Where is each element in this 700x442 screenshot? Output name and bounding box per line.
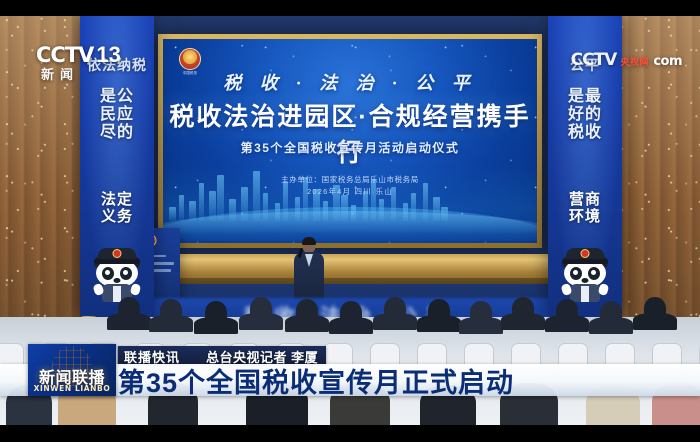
led-organizer-text: 主办单位：国家税务总局乐山市税务局 — [163, 174, 537, 185]
panda-cap-badge — [581, 249, 590, 258]
panda-eye — [570, 267, 582, 280]
panda-eye — [102, 267, 114, 280]
led-kicker-text: 税 收 · 法 治 · 公 平 — [163, 69, 537, 95]
panda-mascot-icon — [93, 248, 141, 302]
panda-cap-badge — [113, 249, 122, 258]
banner-left-tail: 法定义务 — [80, 192, 154, 226]
letterbox-top — [0, 0, 700, 16]
panda-mascot-icon — [561, 248, 609, 302]
led-subtitle-text: 第35个全国税收宣传月活动启动仪式 — [163, 139, 537, 156]
emblem-disc — [179, 48, 201, 70]
panda-arm — [598, 283, 609, 296]
xinwen-lianbo-logo: 新闻联播 XINWEN LIANBO — [28, 344, 116, 396]
slogan-banner-left: 依法纳税 是公民应尽的 法定义务 — [80, 16, 154, 316]
video-frame: 中国税务 税 收 · 法 治 · 公 平 税收法治进园区·合规经营携手行 第35… — [0, 16, 700, 425]
banner-right-lead: 公平 — [548, 58, 622, 74]
panda-arm — [130, 283, 141, 296]
lower-third: 联播快讯 总台央视记者 李厦 第35个全国税收宣传月正式启动 新闻联播 XINW… — [0, 344, 700, 408]
slogan-banner-right: 公平 是最好的税收 营商环境 — [548, 16, 622, 316]
banner-right-tail: 营商环境 — [548, 192, 622, 226]
speaker-hair — [302, 237, 316, 245]
banner-left-lead: 依法纳税 — [80, 58, 154, 74]
led-title-text: 税收法治进园区·合规经营携手行 — [163, 97, 537, 169]
panda-body — [570, 284, 600, 302]
led-screen: 中国税务 税 收 · 法 治 · 公 平 税收法治进园区·合规经营携手行 第35… — [158, 34, 542, 248]
program-name-pinyin: XINWEN LIANBO — [28, 384, 116, 393]
led-date-location-text: 2026年4月 四川·乐山 — [163, 186, 537, 197]
panda-eye — [120, 267, 132, 280]
banner-right-main: 是最好的税收 — [548, 88, 622, 142]
panda-nose — [114, 278, 121, 283]
panda-eye — [588, 267, 600, 280]
headline-text: 第35个全国税收宣传月正式启动 — [118, 364, 514, 396]
broadcast-screenshot: 中国税务 税 收 · 法 治 · 公 平 税收法治进园区·合规经营携手行 第35… — [0, 0, 700, 442]
letterbox-bottom — [0, 425, 700, 442]
panda-nose — [582, 278, 589, 283]
banner-left-main: 是公民应尽的 — [80, 88, 154, 142]
